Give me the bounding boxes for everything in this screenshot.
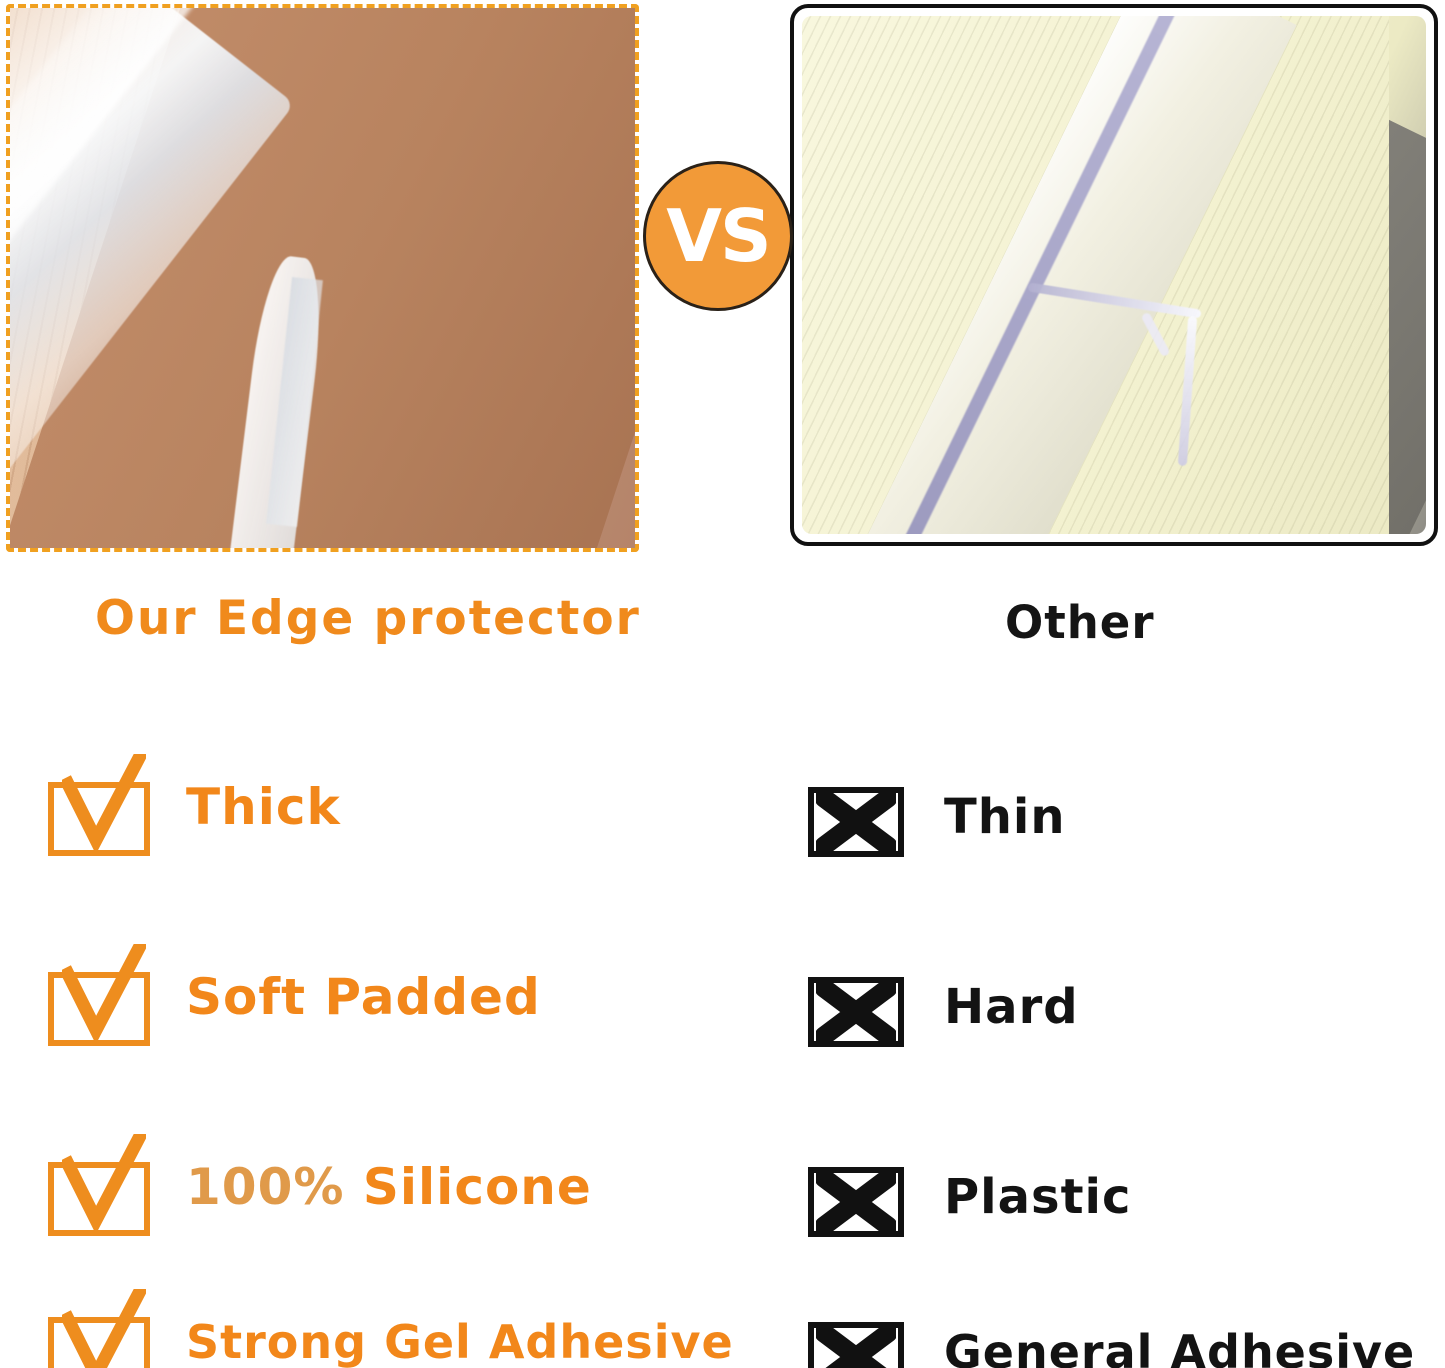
check-mark-icon [48,768,152,846]
x-mark-icon [808,969,906,1045]
feature-label-material: Silicone [363,1158,592,1216]
product-comparison-infographic: VS Our Edge protector Other Thick Soft P… [0,0,1445,1368]
feature-label: Thin [944,789,1066,845]
check-glyph [62,1134,146,1238]
feature-row-plastic: Plastic [808,1102,1445,1292]
x-mark-icon [808,779,906,855]
our-feature-list: Thick Soft Padded 100% Silicone [48,712,788,1368]
x-glyph [816,1173,896,1231]
x-mark-icon [808,1159,906,1235]
x-glyph [816,983,896,1041]
check-glyph [62,1289,146,1368]
feature-row-thick: Thick [48,712,788,902]
feature-label: Thick [186,778,341,836]
other-product-photo-panel [790,4,1438,546]
vs-badge-label: VS [666,200,770,272]
feature-label-percent: 100% [186,1158,344,1216]
feature-row-adhesive: Strong Gel Adhesive [48,1282,788,1368]
x-glyph [816,793,896,851]
feature-row-thin: Thin [808,722,1445,912]
feature-label: 100% Silicone [186,1158,592,1216]
feature-label: Soft Padded [186,968,541,1026]
feature-row-silicone: 100% Silicone [48,1092,788,1282]
other-column-heading: Other [1005,596,1155,649]
check-glyph [62,944,146,1048]
other-product-photo [802,16,1426,534]
our-product-photo-panel [6,4,639,552]
x-glyph [816,1328,896,1368]
feature-row-general-adhesive: General Adhesive [808,1292,1445,1368]
check-mark-icon [48,1303,152,1368]
vs-badge: VS [643,161,793,311]
feature-label: General Adhesive [944,1325,1415,1368]
feature-label: Hard [944,979,1079,1035]
check-mark-icon [48,958,152,1036]
feature-row-hard: Hard [808,912,1445,1102]
feature-row-soft-padded: Soft Padded [48,902,788,1092]
feature-label: Strong Gel Adhesive [186,1315,734,1368]
other-feature-list: Thin Hard Plastic [808,722,1445,1368]
x-mark-icon [808,1314,906,1368]
feature-label: Plastic [944,1169,1131,1225]
check-glyph [62,754,146,858]
check-mark-icon [48,1148,152,1226]
our-column-heading: Our Edge protector [95,591,641,646]
our-product-photo [10,8,635,548]
